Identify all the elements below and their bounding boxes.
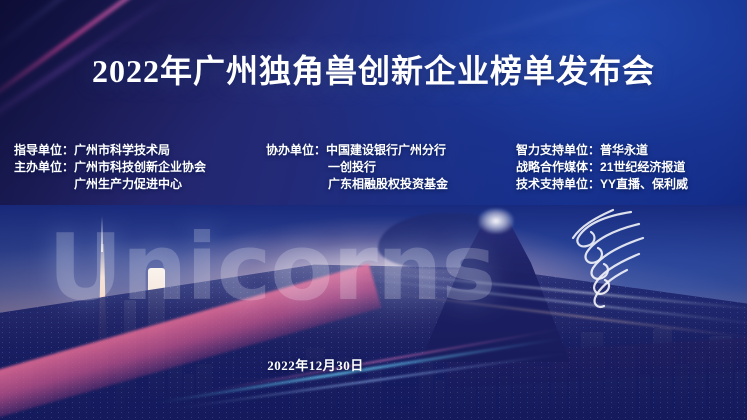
credit-value: 普华永道 xyxy=(600,142,648,159)
credit-value: 21世纪经济报道 xyxy=(600,159,685,176)
credits-column-right: 智力支持单位： 普华永道 战略合作媒体： 21世纪经济报道 技术支持单位： YY… xyxy=(516,142,688,193)
credit-row: 广州生产力促进中心 xyxy=(14,176,266,193)
credit-indent xyxy=(14,176,74,193)
credit-label: 战略合作媒体： xyxy=(516,159,600,176)
credit-row: 智力支持单位： 普华永道 xyxy=(516,142,688,159)
credit-label: 指导单位： xyxy=(14,142,74,159)
credit-label: 主办单位： xyxy=(14,159,74,176)
credit-row: 战略合作媒体： 21世纪经济报道 xyxy=(516,159,688,176)
credit-row: 技术支持单位： YY直播、保利威 xyxy=(516,176,688,193)
credit-label: 技术支持单位： xyxy=(516,176,600,193)
credit-row: 广东相融股权投资基金 xyxy=(266,176,516,193)
credits-column-middle: 协办单位： 中国建设银行广州分行 一创投行 广东相融股权投资基金 xyxy=(266,142,516,193)
credit-value: 广东相融股权投资基金 xyxy=(328,176,448,193)
credit-indent xyxy=(266,159,328,176)
credit-value: 广州市科学技术局 xyxy=(74,142,170,159)
credit-row: 协办单位： 中国建设银行广州分行 xyxy=(266,142,516,159)
credits-column-left: 指导单位： 广州市科学技术局 主办单位： 广州市科技创新企业协会 广州生产力促进… xyxy=(14,142,266,193)
credit-row: 主办单位： 广州市科技创新企业协会 xyxy=(14,159,266,176)
event-poster: Unicorns 2022年广州独角兽创新企业榜单发布会 指导单位： 广州市科学… xyxy=(0,0,747,420)
credit-value: YY直播、保利威 xyxy=(600,176,688,193)
page-title: 2022年广州独角兽创新企业榜单发布会 xyxy=(0,46,747,92)
credit-label: 协办单位： xyxy=(266,142,326,159)
event-date-text: 2022年12月30日 xyxy=(267,355,364,374)
credit-value: 广州生产力促进中心 xyxy=(74,176,182,193)
credit-value: 中国建设银行广州分行 xyxy=(326,142,446,159)
background-watermark-text: Unicorns xyxy=(48,222,495,314)
credit-row: 一创投行 xyxy=(266,159,516,176)
unicorn-mane-swirl-icon xyxy=(535,208,655,313)
credit-value: 广州市科技创新企业协会 xyxy=(74,159,206,176)
credit-row: 指导单位： 广州市科学技术局 xyxy=(14,142,266,159)
credit-value: 一创投行 xyxy=(328,159,376,176)
light-streak-faint-1 xyxy=(120,0,515,22)
credits-block: 指导单位： 广州市科学技术局 主办单位： 广州市科技创新企业协会 广州生产力促进… xyxy=(0,142,747,193)
event-date: 2022年12月30日 xyxy=(0,355,747,374)
credit-label: 智力支持单位： xyxy=(516,142,600,159)
credit-indent xyxy=(266,176,328,193)
